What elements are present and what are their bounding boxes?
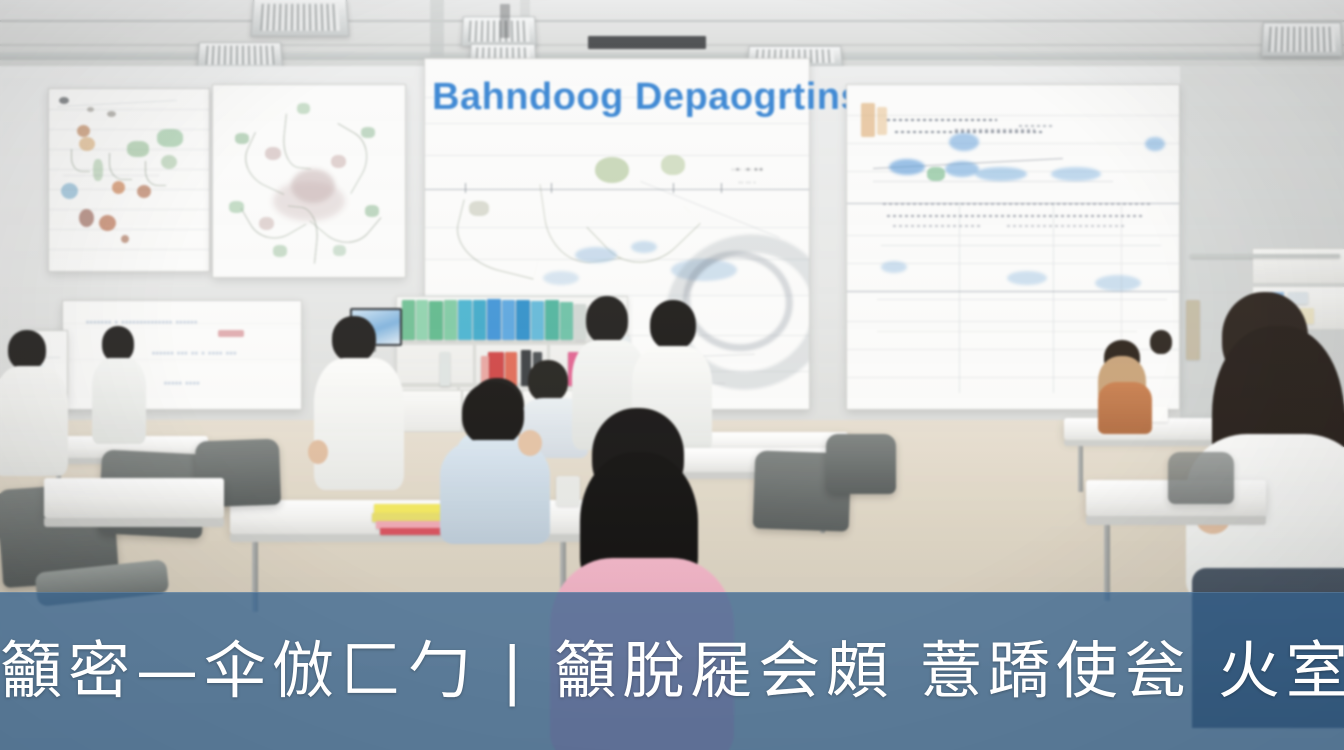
classroom-photo: Bahndoog Depaogrtins ··•· ·•· •·• ·· ·· …	[0, 0, 1344, 750]
poster-banner-title: Bahndoog Depaogrtins	[432, 76, 862, 119]
shelf-binder	[531, 301, 544, 340]
shelf-binder	[516, 300, 530, 340]
shelf-binder	[444, 300, 457, 340]
chair-right-back	[1168, 452, 1234, 504]
shelf-binder	[487, 299, 501, 340]
shelf-binder	[502, 300, 515, 340]
shelf-binder	[429, 301, 443, 340]
caption-text: 籲密—伞倣匚勹 | 籲脫屣会頗 薏蹻使瓮 火室	[0, 639, 1344, 701]
shelf-binder	[416, 300, 428, 340]
shelf-binder	[473, 300, 486, 340]
poster-note-line-1: ··•· ·•· •·•	[692, 164, 802, 176]
cup	[556, 476, 580, 506]
ceiling-light-fixture	[197, 42, 283, 68]
whiteboard-text-line-2: ······ ··· ·· · ···· ···	[152, 348, 237, 360]
wall-rail	[1190, 254, 1340, 258]
cabinet	[400, 390, 462, 432]
shelf-binder	[402, 300, 415, 340]
shelf-binder	[458, 300, 472, 340]
ceiling-light-fixture	[250, 0, 349, 36]
ceiling-vent	[500, 4, 510, 38]
poster-specimen-chart-left	[48, 88, 210, 272]
radiating-plant-diagram	[213, 85, 405, 277]
ceiling-light-fixture	[1261, 22, 1343, 56]
shelf-binder	[440, 352, 450, 386]
chair-center-right	[826, 434, 896, 494]
shelf-binder	[545, 300, 559, 340]
shelf-binder	[560, 302, 573, 340]
ceiling-vent	[588, 36, 706, 49]
desk-foreground-left	[44, 478, 224, 518]
wall-fixture	[1186, 300, 1200, 360]
shelf-binder	[574, 304, 586, 340]
poster-specimen-chart-left-2	[212, 84, 406, 278]
caption-bar: 籲密—伞倣匚勹 | 籲脫屣会頗 薏蹻使瓮 火室	[0, 592, 1344, 750]
hand	[308, 440, 328, 464]
hand	[518, 430, 542, 456]
whiteboard-text-line-1: ······· · ·············· ······	[86, 317, 198, 329]
poster-note-line-2: ·· ·· ·	[692, 177, 802, 189]
whiteboard-text-line-3: ····· ····	[164, 378, 200, 390]
ceiling-light-fixture	[461, 16, 537, 46]
specimen-illustrations	[49, 89, 209, 271]
whiteboard-red-mark	[218, 330, 244, 337]
